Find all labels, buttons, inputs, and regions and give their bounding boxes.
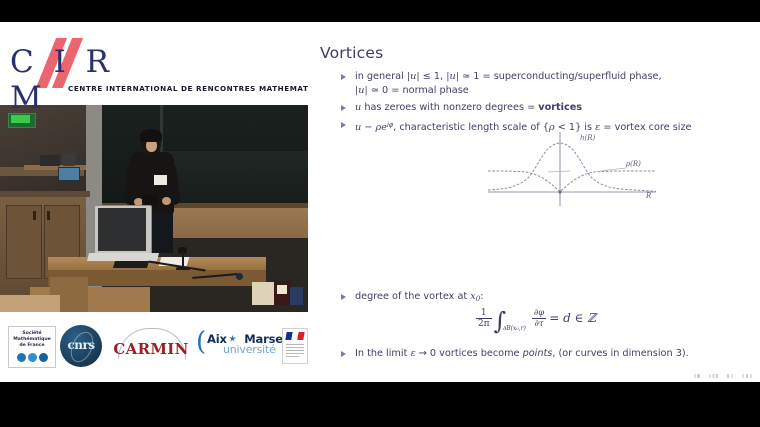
logo-smf: Société Mathématique de France	[8, 326, 56, 368]
scene-step	[0, 295, 60, 312]
nav-dot-icon[interactable]	[750, 374, 752, 378]
bullet-triangle-icon	[341, 294, 346, 300]
sponsor-logo-strip: Société Mathématique de France cnrs CAR	[0, 312, 308, 382]
integral-domain: ∂B(x₀,r)	[503, 325, 526, 332]
scene-cable-connector	[236, 273, 243, 280]
bullet-text: In the limit ε → 0 vortices become point…	[355, 348, 689, 359]
bullet-zeroes-vortices: u has zeroes with nonzero degrees = vort…	[340, 101, 752, 115]
slide-bullet-list: in general |u| ≤ 1, |u| ≃ 1 = supercondu…	[340, 70, 752, 138]
logo-cnrs: cnrs	[60, 325, 102, 367]
nav-dot-icon[interactable]	[697, 374, 699, 378]
bullet-text: in general |u| ≤ 1, |u| ≃ 1 = supercondu…	[355, 71, 662, 96]
video-frame: C I R M CENTRE INTERNATIONAL DE RENCONTR…	[0, 22, 760, 382]
smf-badge-icon	[39, 353, 48, 362]
cirm-logo: C I R M	[10, 40, 120, 84]
beamer-navigation-bar[interactable]	[694, 374, 752, 378]
presentation-slide: Vortices in general |u| ≤ 1, |u| ≃ 1 = s…	[308, 22, 760, 382]
nav-dot-icon[interactable]	[731, 374, 733, 378]
nav-group-subsections[interactable]	[727, 374, 733, 378]
speaker-badge	[154, 175, 167, 185]
amu-paren-icon: (	[196, 327, 206, 357]
nav-group-sections[interactable]	[742, 374, 752, 378]
scene-cabinet-door	[6, 205, 42, 279]
scene-equipment	[62, 153, 76, 166]
coefficient-denominator: 2π	[476, 319, 492, 329]
scene-small-monitor	[58, 167, 80, 181]
smf-badge-icon	[17, 353, 26, 362]
logo-amu-line-3: université	[223, 343, 276, 356]
bullet-triangle-icon	[341, 105, 346, 111]
scene-cabinet-handle	[47, 211, 50, 220]
slide-title: Vortices	[320, 44, 383, 62]
coefficient-numerator: 1	[476, 308, 492, 319]
scene-keyboard	[113, 261, 149, 268]
cirm-header-band: C I R M CENTRE INTERNATIONAL DE RENCONTR…	[0, 22, 308, 105]
logo-smf-icons	[9, 353, 55, 362]
bullet-triangle-icon	[341, 74, 346, 80]
scene-box	[290, 287, 303, 305]
nav-group-slides[interactable]	[694, 374, 700, 378]
leader-line	[600, 168, 626, 171]
scene-box	[252, 282, 274, 305]
curve-rho	[488, 171, 656, 192]
nav-dot-icon[interactable]	[709, 374, 711, 378]
integrand-numerator: ∂φ	[532, 308, 546, 319]
left-panel: C I R M CENTRE INTERNATIONAL DE RENCONTR…	[0, 22, 308, 382]
french-flag-icon	[285, 332, 304, 340]
bullet-triangle-icon	[341, 351, 346, 357]
speaker-hand	[162, 197, 171, 205]
figure-label-rho: ρ(R)	[626, 160, 641, 168]
leader-line	[548, 171, 570, 172]
scene-laptop-screen	[98, 208, 146, 251]
bullet-general-phase: in general |u| ≤ 1, |u| ≃ 1 = supercondu…	[340, 70, 752, 98]
origin-marker	[558, 190, 561, 193]
scene-blackboard-2	[162, 151, 308, 209]
scene-cabinet-handle	[33, 211, 36, 220]
nav-dot-icon[interactable]	[694, 374, 696, 378]
bullet-text: u has zeroes with nonzero degrees = vort…	[355, 102, 582, 113]
degree-equation: 1 2π ∫∂B(x₀,r) ∂φ ∂τ = d ∈ ℤ	[416, 308, 656, 332]
bullet-triangle-icon	[341, 122, 346, 128]
logo-carmin: CARMIN	[112, 328, 190, 362]
vortex-profile-chart	[488, 130, 663, 208]
smf-badge-icon	[28, 353, 37, 362]
bullet-degree: degree of the vortex at x0:	[340, 290, 760, 306]
equation-result: d ∈ ℤ	[563, 311, 596, 325]
bullet-text: degree of the vortex at x0:	[355, 291, 483, 302]
nav-dot-icon[interactable]	[746, 374, 748, 378]
scene-equipment	[40, 155, 60, 166]
nav-dot-icon[interactable]	[712, 374, 714, 378]
video-player-screen: C I R M CENTRE INTERNATIONAL DE RENCONTR…	[0, 0, 760, 427]
scene-box-label	[277, 285, 287, 294]
letterbox-bar-bottom	[0, 382, 760, 427]
figure-label-axis: R	[646, 192, 651, 200]
nav-group-frames[interactable]	[709, 374, 719, 378]
logo-carmin-label: CARMIN	[112, 340, 190, 358]
cirm-logo-letters: C I R M	[10, 44, 120, 116]
speaker-hair	[140, 129, 162, 142]
logo-smf-line-3: de France	[9, 343, 55, 349]
logo-rf-text-lines	[286, 344, 304, 358]
bullet-limit-points: In the limit ε → 0 vortices become point…	[340, 347, 760, 361]
nav-dot-icon[interactable]	[716, 374, 718, 378]
nav-dot-icon[interactable]	[727, 374, 729, 378]
equation-coefficient: 1 2π	[476, 308, 492, 329]
figure-label-h: h(R)	[580, 134, 595, 142]
logo-republique-francaise	[282, 328, 308, 364]
exit-sign-glow	[11, 115, 30, 123]
lecture-video-still[interactable]	[0, 105, 308, 312]
logo-aix-marseille: ( Aix Marseille université	[196, 329, 280, 361]
nav-dot-icon[interactable]	[742, 374, 744, 378]
letterbox-bar-top	[0, 0, 760, 22]
equation-integrand: ∂φ ∂τ	[532, 308, 546, 329]
equation-equals: =	[549, 311, 559, 325]
integrand-denominator: ∂τ	[532, 319, 546, 329]
vortex-profile-figure: h(R) ρ(R) R	[488, 130, 663, 208]
logo-cnrs-label: cnrs	[60, 338, 102, 352]
